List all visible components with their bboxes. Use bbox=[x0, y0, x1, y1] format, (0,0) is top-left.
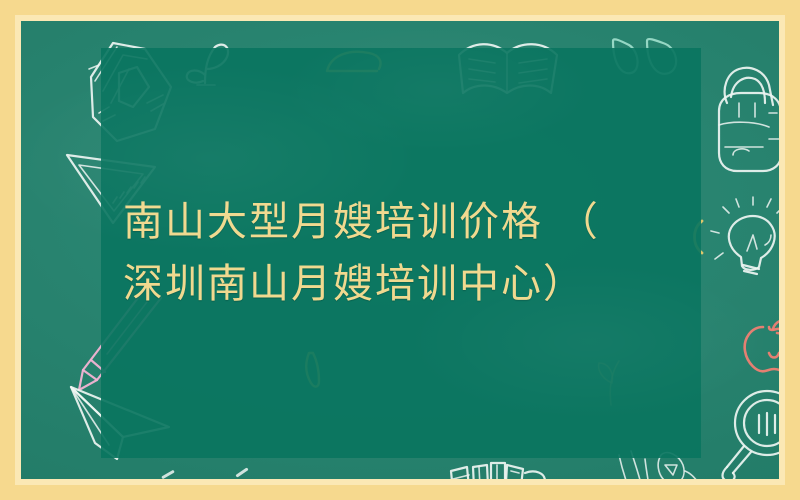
backpack-icon bbox=[711, 59, 779, 179]
lightbulb-icon bbox=[709, 201, 779, 287]
title-line-2: 深圳南山月嫂培训中心） bbox=[123, 253, 585, 315]
title-line-1: 南山大型月嫂培训价格 （ bbox=[123, 191, 600, 253]
dash-marks bbox=[161, 471, 281, 479]
apple-icon bbox=[741, 319, 779, 377]
chalkboard-background: 南山大型月嫂培训价格 （ 深圳南山月嫂培训中心） bbox=[21, 21, 779, 479]
title-block: 南山大型月嫂培训价格 （ 深圳南山月嫂培训中心） bbox=[101, 48, 701, 458]
bookshelf-icon bbox=[441, 459, 561, 479]
magnifier-icon bbox=[715, 389, 779, 479]
poster-canvas: 南山大型月嫂培训价格 （ 深圳南山月嫂培训中心） bbox=[0, 0, 800, 500]
